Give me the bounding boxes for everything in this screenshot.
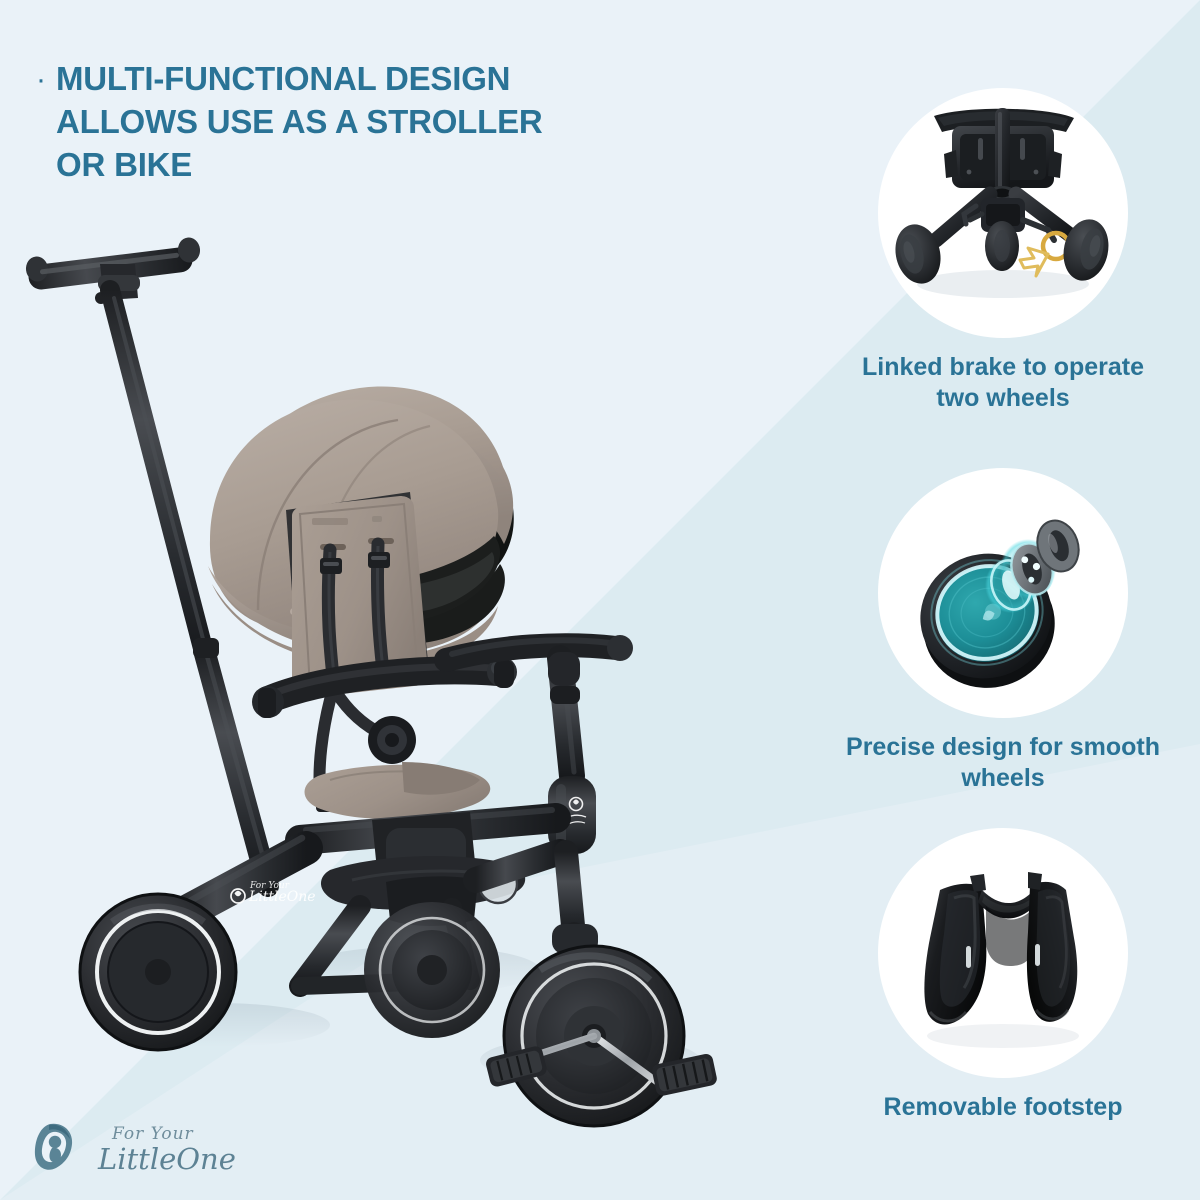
bumper-bar xyxy=(252,657,517,718)
headline-block: · MULTI-FUNCTIONAL DESIGN ALLOWS USE AS … xyxy=(36,58,596,187)
feature-image-linked-brake xyxy=(878,88,1128,338)
brand-wordmark: For Your LittleOne xyxy=(98,1126,236,1174)
feature-image-smooth-wheels xyxy=(878,468,1128,718)
front-wheel-assembly xyxy=(485,852,719,1126)
feature-image-footstep xyxy=(878,828,1128,1078)
feature-removable-footstep: Removable footstep xyxy=(838,828,1168,1123)
bullet-icon: · xyxy=(36,58,46,100)
brand-line-1: For Your xyxy=(112,1126,236,1143)
infographic-canvas: · MULTI-FUNCTIONAL DESIGN ALLOWS USE AS … xyxy=(0,0,1200,1200)
feature-caption-linked-brake: Linked brake to operate two wheels xyxy=(838,352,1168,415)
svg-text:LittleOne: LittleOne xyxy=(248,889,316,905)
brand-logo: For Your LittleOne xyxy=(30,1117,236,1182)
page-title: MULTI-FUNCTIONAL DESIGN ALLOWS USE AS A … xyxy=(56,58,596,187)
product-image-trike-stroller: For Your LittleOne xyxy=(0,180,760,1140)
feature-smooth-wheels: Precise design for smooth wheels xyxy=(838,468,1168,795)
feature-caption-smooth-wheels: Precise design for smooth wheels xyxy=(838,732,1168,795)
feature-linked-brake: Linked brake to operate two wheels xyxy=(838,88,1168,415)
mother-and-child-icon xyxy=(30,1117,90,1182)
brake-wheel-centre xyxy=(985,221,1019,271)
feature-caption-footstep: Removable footstep xyxy=(838,1092,1168,1123)
brand-line-2: LittleOne xyxy=(98,1145,236,1174)
brake-highlight-indicator xyxy=(1020,233,1069,276)
